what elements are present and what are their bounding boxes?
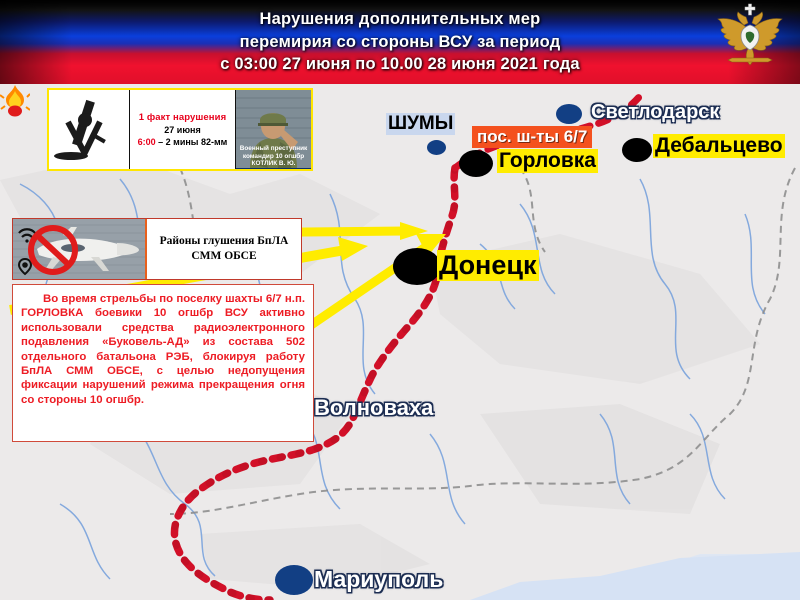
fact-title: 1 факт нарушения (139, 112, 226, 123)
fact-time: 6:00 (138, 137, 156, 147)
soldier-caption-line-1: Военный преступник (236, 145, 311, 153)
map-label-mariupol[interactable]: Мариуполь (314, 566, 443, 593)
page-title: Нарушения дополнительных мер перемирия с… (120, 8, 680, 76)
map-dot-gorlovka[interactable] (459, 150, 493, 177)
map-label-donetsk[interactable]: Донецк (437, 250, 539, 281)
soldier-caption: Военный преступник командир 10 огшбр КОТ… (236, 145, 311, 168)
map-label-shumy[interactable]: ШУМЫ (386, 113, 455, 135)
map-dot-shumy[interactable] (427, 140, 446, 155)
map-label-shakhty[interactable]: пос. ш-ты 6/7 (472, 126, 592, 148)
soldier-photo: Военный преступник командир 10 огшбр КОТ… (236, 90, 311, 169)
map-label-gorlovka[interactable]: Горловка (497, 149, 598, 173)
title-line-1: Нарушения дополнительных мер (120, 8, 680, 31)
title-line-3: с 03:00 27 июня по 10.00 28 июня 2021 го… (120, 53, 680, 76)
mortar-icon-cell (49, 90, 130, 169)
uav-jamming-image (13, 219, 145, 279)
uav-drone-icon (13, 219, 145, 279)
map-dot-svetlodarsk[interactable] (556, 104, 582, 124)
uav-jamming-label-text: Районы глушения БпЛАСММ ОБСЕ (160, 234, 289, 264)
uav-label-line-2: СММ ОБСЕ (191, 250, 256, 262)
map-label-volnovakha[interactable]: Волноваха (314, 395, 433, 421)
violation-fact-box[interactable]: 1 факт нарушения 27 июня 6:00 – 2 мины 8… (47, 88, 313, 171)
soldier-caption-line-3: КОТЛИК В. Ю. (236, 160, 311, 168)
fact-date: 27 июня (164, 125, 200, 135)
header-banner: Нарушения дополнительных мер перемирия с… (0, 0, 800, 84)
title-line-2: перемирия со стороны ВСУ за период (120, 31, 680, 54)
map-dot-donetsk[interactable] (393, 248, 441, 285)
violation-fact-text: 1 факт нарушения 27 июня 6:00 – 2 мины 8… (130, 90, 236, 169)
soldier-caption-line-2: командир 10 огшбр (236, 153, 311, 161)
fact-ammo: – 2 мины 82-мм (156, 137, 228, 147)
slide-root: ШУМЫ пос. ш-ты 6/7 Светлодарск Дебальцев… (0, 0, 800, 600)
uav-jamming-label: Районы глушения БпЛАСММ ОБСЕ (145, 219, 301, 279)
map-label-debaltsevo[interactable]: Дебальцево (653, 134, 785, 158)
jamming-description-text: Во время стрельбы по поселку шахты 6/7 н… (21, 292, 305, 407)
jamming-description-box[interactable]: Во время стрельбы по поселку шахты 6/7 н… (12, 284, 314, 442)
map-dot-mariupol[interactable] (275, 565, 313, 595)
map-dot-debaltsevo[interactable] (622, 138, 652, 162)
map-label-svetlodarsk[interactable]: Светлодарск (591, 101, 719, 124)
fact-detail: 6:00 – 2 мины 82-мм (138, 137, 228, 147)
double-headed-eagle-emblem (708, 3, 792, 81)
fire-explosion-icon (0, 84, 30, 118)
mortar-icon (49, 90, 129, 168)
uav-label-line-1: Районы глушения БпЛА (160, 235, 289, 247)
uav-jamming-box[interactable]: Районы глушения БпЛАСММ ОБСЕ (12, 218, 302, 280)
